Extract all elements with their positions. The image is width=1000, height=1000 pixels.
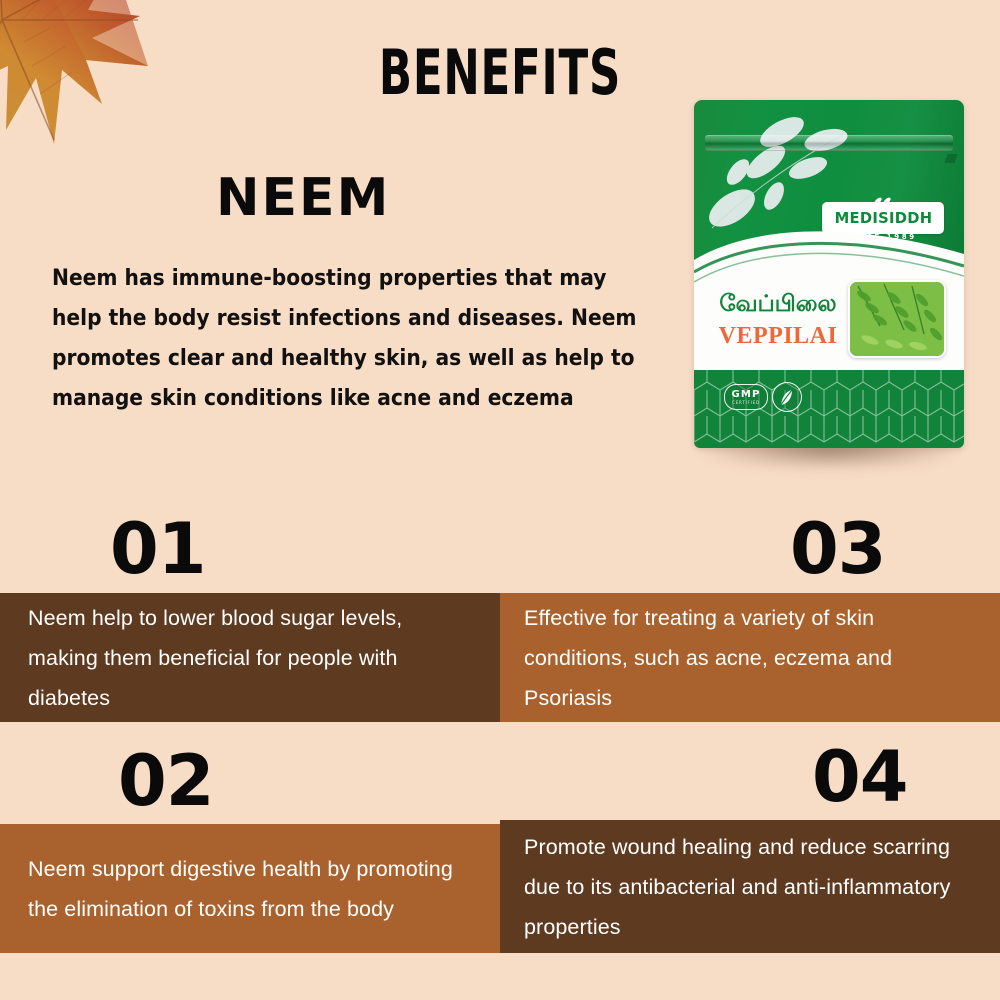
intro-paragraph: Neem has immune-boosting properties that… — [52, 258, 642, 418]
gmp-certified-badge: GMP CERTIFIED — [724, 384, 768, 410]
packet-zipper — [705, 135, 953, 151]
benefit-card-01: Neem help to lower blood sugar levels, m… — [0, 593, 500, 722]
benefit-text-04: Promote wound healing and reduce scarrin… — [524, 827, 974, 947]
benefit-number-04: 04 — [812, 742, 907, 812]
gmp-label: GMP — [731, 390, 760, 400]
product-packet-image: MEDISIDDH SINCE 1989 வேப்பிலை VEPPILAI — [694, 100, 964, 448]
benefit-card-04: Promote wound healing and reduce scarrin… — [500, 820, 1000, 953]
gmp-sub-label: CERTIFIED — [732, 401, 760, 405]
benefit-text-01: Neem help to lower blood sugar levels, m… — [28, 598, 474, 718]
packet-surface: MEDISIDDH SINCE 1989 வேப்பிலை VEPPILAI — [694, 100, 964, 448]
herb-name-heading: NEEM — [216, 168, 390, 228]
benefit-number-03: 03 — [790, 514, 885, 584]
product-name-tamil: வேப்பிலை — [710, 292, 846, 315]
packet-certification-band: GMP CERTIFIED — [694, 370, 964, 448]
page-title: BENEFITS — [110, 36, 890, 109]
natural-leaf-seal-icon — [772, 382, 802, 412]
benefits-poster: BENEFITS NEEM Neem has immune-boosting p… — [0, 0, 1000, 1000]
benefit-text-02: Neem support digestive health by promoti… — [28, 849, 482, 929]
benefit-card-03: Effective for treating a variety of skin… — [500, 593, 1000, 722]
benefit-text-03: Effective for treating a variety of skin… — [524, 598, 974, 718]
product-name-latin: VEPPILAI — [710, 324, 846, 348]
benefit-number-02: 02 — [118, 746, 213, 816]
benefit-number-01: 01 — [110, 514, 205, 584]
benefit-card-02: Neem support digestive health by promoti… — [0, 824, 500, 953]
neem-leaf-photo — [848, 280, 946, 358]
